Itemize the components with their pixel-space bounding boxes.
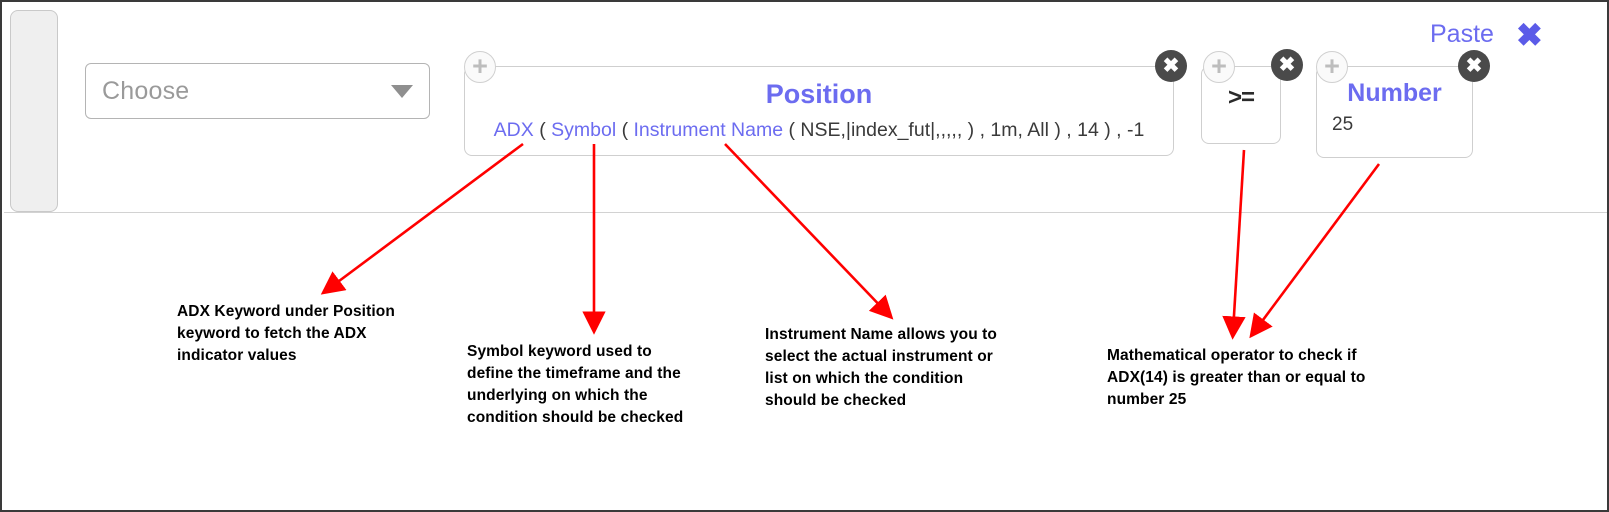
close-circle-icon[interactable]: ✖ (1155, 50, 1187, 82)
annotation-symbol: Symbol keyword used to define the timefr… (467, 341, 702, 429)
plus-circle-icon[interactable]: + (1203, 51, 1235, 83)
builder-screenshot: Choose Position ADX ( Symbol ( Instrumen… (0, 0, 1609, 512)
position-formula-text: ADX ( Symbol ( Instrument Name ( NSE,|in… (465, 119, 1173, 142)
chevron-down-icon (391, 85, 413, 98)
formula-literal: ( NSE,|index_fut|,,,,, ) , 1m, All ) , 1… (783, 119, 1144, 141)
builder-divider (4, 212, 1609, 213)
operator-value: >= (1202, 84, 1280, 112)
number-value-field[interactable]: 25 (1332, 114, 1472, 136)
condition-builder-area: Choose Position ADX ( Symbol ( Instrumen… (2, 2, 1609, 214)
formula-literal: ( (616, 119, 633, 141)
close-circle-icon[interactable]: ✖ (1458, 50, 1490, 82)
number-block-title: Number (1317, 79, 1472, 108)
plus-circle-icon[interactable]: + (464, 51, 496, 83)
annotation-adx: ADX Keyword under Position keyword to fe… (177, 301, 422, 367)
choose-dropdown-label: Choose (102, 77, 391, 106)
formula-keyword[interactable]: ADX (494, 119, 534, 141)
annotation-instrument: Instrument Name allows you to select the… (765, 324, 1015, 412)
formula-keyword[interactable]: Symbol (551, 119, 616, 141)
close-circle-icon[interactable]: ✖ (1271, 49, 1303, 81)
annotation-operator: Mathematical operator to check if ADX(14… (1107, 345, 1367, 411)
dismiss-icon[interactable]: ✖ (1516, 19, 1543, 51)
paste-button[interactable]: Paste (1430, 20, 1494, 49)
position-keyword-block[interactable]: Position ADX ( Symbol ( Instrument Name … (464, 66, 1174, 156)
choose-dropdown[interactable]: Choose (85, 63, 430, 119)
left-side-panel (10, 10, 58, 212)
position-block-title: Position (465, 79, 1173, 110)
formula-literal: ( (534, 119, 551, 141)
formula-keyword[interactable]: Instrument Name (634, 119, 784, 141)
plus-circle-icon[interactable]: + (1316, 51, 1348, 83)
